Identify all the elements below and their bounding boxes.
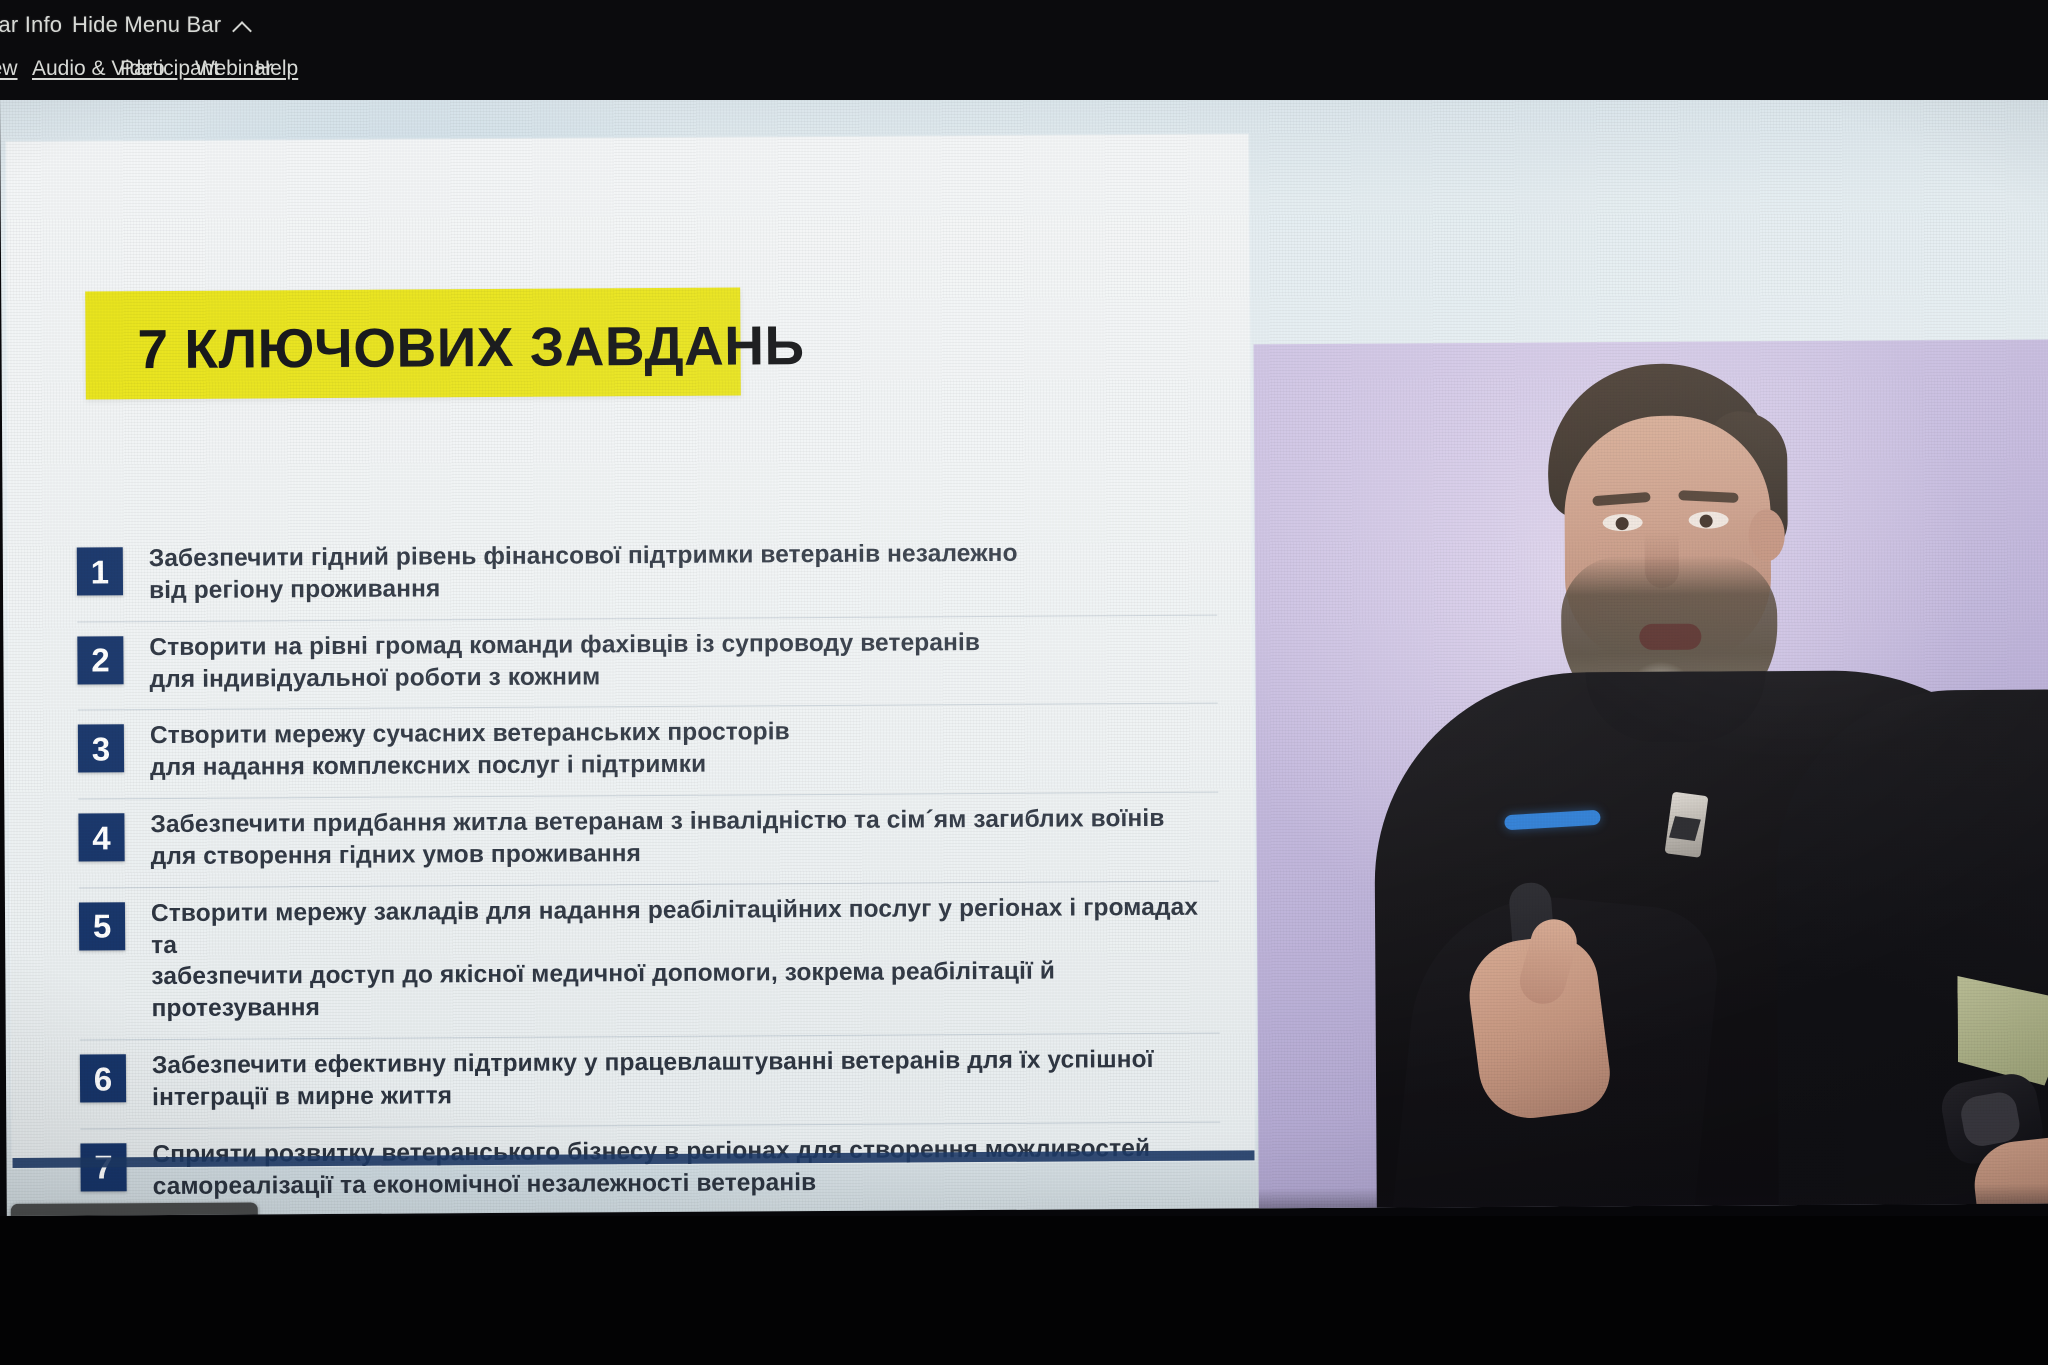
task-number: 5 (79, 902, 125, 950)
task-number: 2 (77, 636, 123, 684)
speaker-mouth (1639, 624, 1701, 650)
task-text: Створити на рівні громад команди фахівці… (149, 625, 1217, 695)
chevron-up-icon (233, 19, 255, 31)
task-list: 1 Забезпечити гідний рівень фінансової п… (77, 527, 1221, 1216)
zoom-menu-bar: nar Info Hide Menu Bar iew Audio & Video… (0, 0, 2048, 100)
task-number: 3 (78, 725, 124, 773)
task-line-1: Створити на рівні громад команди фахівці… (149, 629, 980, 661)
task-number: 6 (80, 1054, 126, 1102)
task-row: 4 Забезпечити придбання житла ветеранам … (78, 793, 1219, 889)
task-line-1: Забезпечити придбання житла ветеранам з … (150, 805, 1164, 838)
presenter-name-badge: Київська ОВА (Host) (11, 1202, 258, 1216)
hide-menu-bar-button[interactable]: Hide Menu Bar (72, 12, 255, 38)
slide-title: 7 КЛЮЧОВИХ ЗАВДАНЬ (137, 313, 804, 381)
task-line-2: для індивідуальної роботи з кожним (149, 657, 1217, 695)
task-line-2: інтеграції в мирне життя (152, 1076, 1220, 1114)
task-text: Забезпечити ефективну підтримку у працев… (152, 1044, 1220, 1114)
task-line-2: забезпечити доступ до якісної медичної д… (151, 955, 1219, 1025)
task-line-1: Створити мережу сучасних ветеранських пр… (150, 719, 790, 750)
task-text: Створити мережу сучасних ветеранських пр… (150, 714, 1218, 784)
task-line-2: для створення гідних умов проживання (151, 834, 1219, 872)
task-row: 1 Забезпечити гідний рівень фінансової п… (77, 527, 1218, 623)
hide-menu-bar-label: Hide Menu Bar (72, 12, 221, 38)
task-number: 4 (78, 813, 124, 861)
monitor-bezel-bottom (0, 1216, 2048, 1365)
task-line-1: Забезпечити гідний рівень фінансової під… (149, 540, 1018, 572)
stage-edge (1259, 1183, 2048, 1216)
webinar-info-menu[interactable]: nar Info (0, 12, 62, 38)
shared-screen-area: 7 КЛЮЧОВИХ ЗАВДАНЬ 1 Забезпечити гідний … (0, 83, 2048, 1215)
presentation-slide: 7 КЛЮЧОВИХ ЗАВДАНЬ 1 Забезпечити гідний … (6, 134, 1254, 1168)
slide-title-band: 7 КЛЮЧОВИХ ЗАВДАНЬ (85, 287, 741, 399)
task-line-2: від регіону проживання (149, 568, 1217, 606)
task-number: 1 (77, 547, 123, 595)
menu-item-view[interactable]: iew (0, 57, 18, 81)
task-line-1: Створити мережу закладів для надання реа… (151, 893, 1198, 958)
speaker-ear (1749, 509, 1785, 561)
task-text: Створити мережу закладів для надання реа… (151, 891, 1220, 1025)
menu-item-help-label: Help (255, 57, 298, 80)
task-row: 2 Створити на рівні громад команди фахів… (77, 615, 1218, 711)
task-text: Сприяти розвитку ветеранського бізнесу в… (152, 1132, 1220, 1202)
task-row: 3 Створити мережу сучасних ветеранських … (78, 704, 1219, 800)
menu-item-view-label: iew (0, 57, 18, 80)
task-row: 6 Забезпечити ефективну підтримку у прац… (80, 1034, 1221, 1130)
menu-item-help[interactable]: Help (255, 57, 298, 81)
task-text: Забезпечити придбання житла ветеранам з … (150, 803, 1218, 873)
task-row: 5 Створити мережу закладів для надання р… (79, 881, 1220, 1040)
task-line-1: Забезпечити ефективну підтримку у працев… (152, 1046, 1154, 1079)
task-line-2: для надання комплексних послуг і підтрим… (150, 746, 1218, 784)
speaker-video-tile[interactable] (1254, 339, 2048, 1216)
task-text: Забезпечити гідний рівень фінансової під… (149, 537, 1217, 607)
task-line-2: самореалізації та економічної незалежнос… (153, 1164, 1221, 1202)
